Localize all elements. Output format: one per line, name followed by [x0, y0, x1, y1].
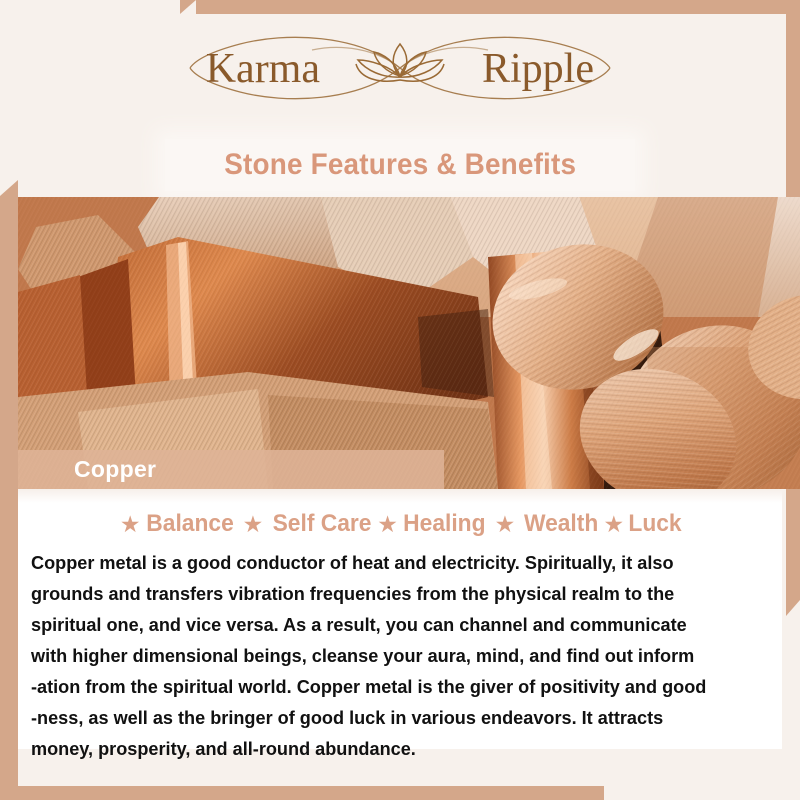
- star-icon-1: ★: [117, 511, 144, 538]
- star-icon-4: ★: [488, 511, 523, 538]
- description-line: -ation from the spiritual world. Copper …: [31, 671, 760, 702]
- brand-name-left: Karma: [206, 46, 321, 92]
- description-line: grounds and transfers vibration frequenc…: [31, 578, 760, 609]
- infographic-card: Karma Ripple Stone Features & Benefits: [0, 0, 800, 800]
- brand-name-right: Ripple: [482, 46, 594, 92]
- description-line: -ness, as well as the bringer of good lu…: [31, 702, 760, 733]
- content-panel: ★ Balance ★ Self Care ★ Healing ★ Wealth…: [18, 489, 782, 749]
- feature-item-healing: Healing: [403, 510, 485, 538]
- feature-item-self-care: Self Care: [273, 510, 372, 538]
- frame-band-top: [196, 0, 800, 14]
- feature-item-luck: Luck: [628, 510, 681, 538]
- frame-band-bottom: [0, 786, 604, 800]
- star-icon-3: ★: [374, 511, 401, 538]
- description-line: with higher dimensional beings, cleanse …: [31, 640, 760, 671]
- frame-band-left: [0, 196, 18, 800]
- frame-band-left-tip: [0, 180, 18, 196]
- description-line: spiritual one, and vice versa. As a resu…: [31, 609, 760, 640]
- photo-label-text: Copper: [74, 456, 156, 483]
- photo-label-bar: Copper: [18, 450, 444, 489]
- content-top-fade: [18, 489, 782, 503]
- copper-bars-photo: [18, 197, 800, 489]
- page-title: Stone Features & Benefits: [224, 148, 576, 182]
- star-icon-5: ★: [600, 511, 627, 538]
- frame-band-right-tip: [786, 600, 800, 616]
- frame-band-top-tip: [180, 0, 196, 14]
- feature-item-balance: Balance: [146, 510, 233, 538]
- feature-list: ★ Balance ★ Self Care ★ Healing ★ Wealth…: [18, 503, 782, 545]
- description-line: money, prosperity, and all-round abundan…: [31, 733, 760, 764]
- star-icon-2: ★: [236, 511, 271, 538]
- title-banner: Stone Features & Benefits: [165, 139, 635, 191]
- feature-item-wealth: Wealth: [524, 510, 598, 538]
- photo-illustration: [18, 197, 800, 489]
- description-line: Copper metal is a good conductor of heat…: [31, 547, 760, 578]
- brand-logo: Karma Ripple: [0, 18, 800, 118]
- logo-svg: Karma Ripple: [90, 20, 710, 116]
- description-text: Copper metal is a good conductor of heat…: [31, 547, 760, 764]
